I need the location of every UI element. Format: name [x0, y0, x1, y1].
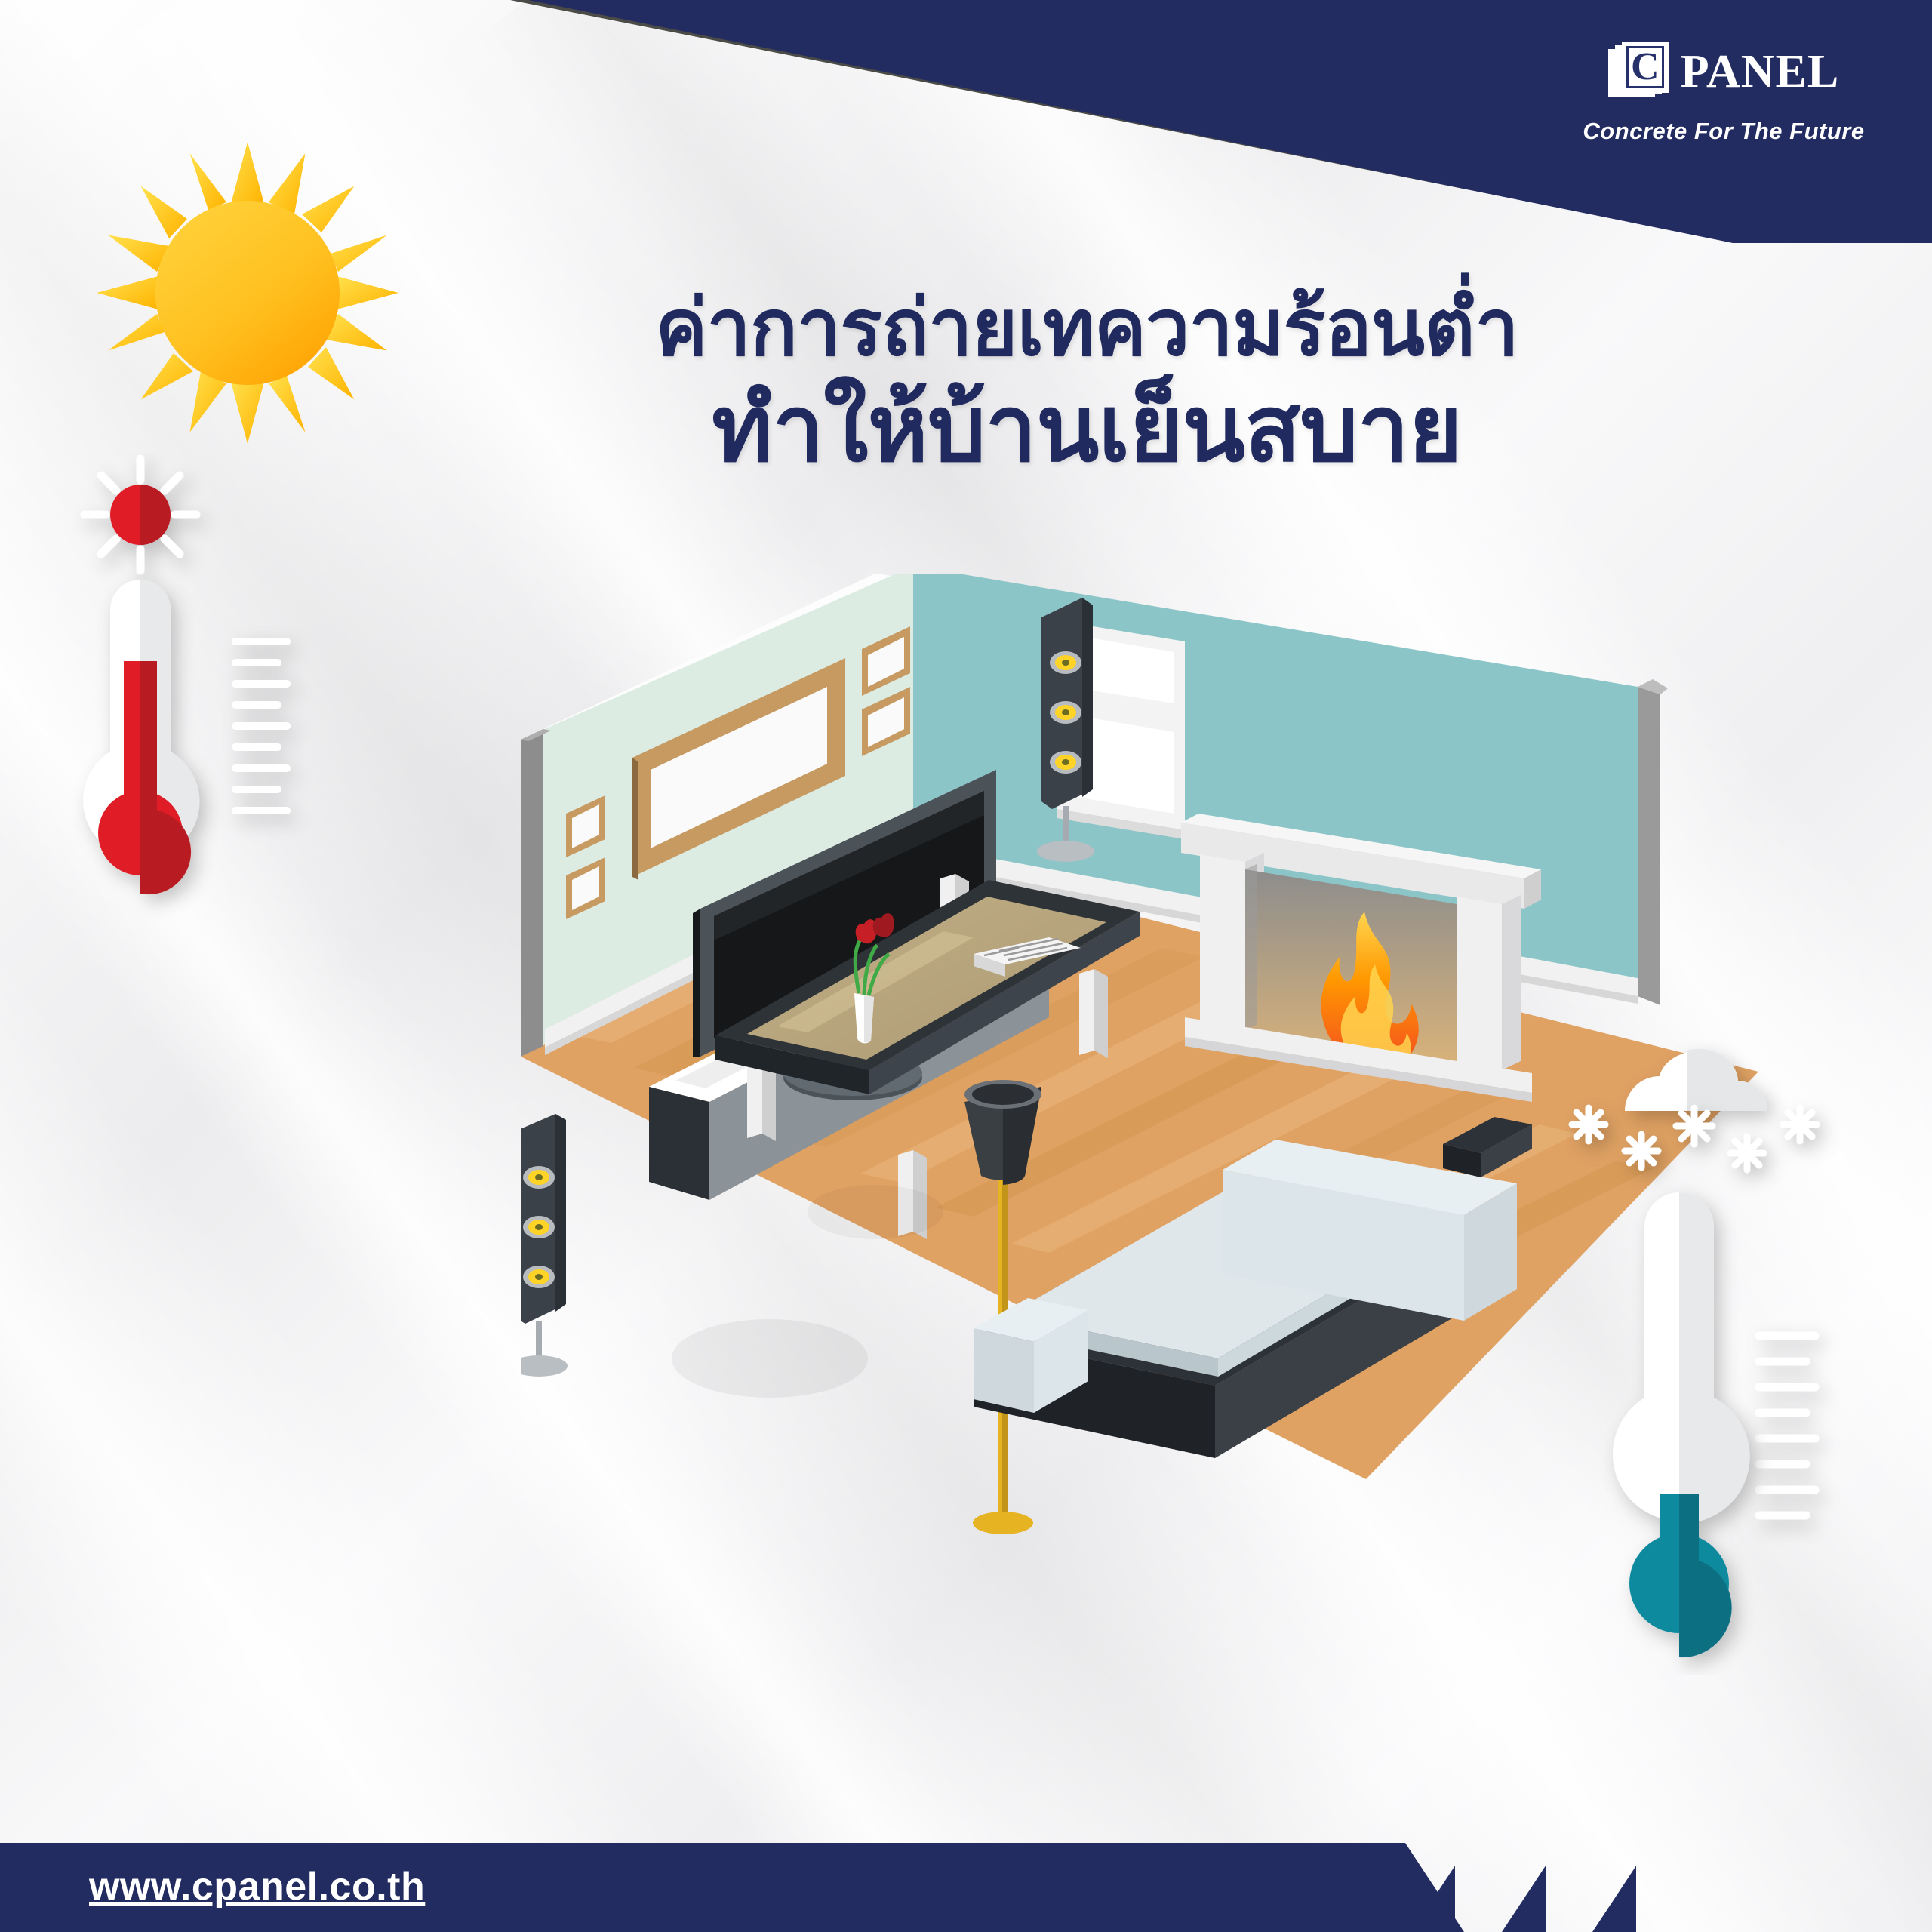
cold-thermometer	[1566, 1041, 1883, 1675]
headline-line-1: ค่าการถ่ายเทความร้อนต่ำ	[408, 287, 1766, 370]
thermometer-scale	[235, 641, 287, 811]
speaker-cone	[523, 1166, 555, 1288]
headline-line-2: ทำให้บ้านเย็นสบาย	[408, 380, 1766, 478]
flower-vase	[854, 993, 874, 1043]
sun-icon	[89, 134, 406, 451]
floor-shadow-2	[808, 1185, 943, 1239]
headline: ค่าการถ่ายเทความร้อนต่ำ ทำให้บ้านเย็นสบา…	[408, 287, 1766, 478]
red-sun-icon	[85, 459, 196, 571]
footer-stripe-3	[1592, 1843, 1636, 1932]
cloud-icon	[1625, 1049, 1767, 1111]
snowflake-icon	[1572, 1108, 1817, 1170]
website-url[interactable]: www.cpanel.co.th	[89, 1864, 425, 1909]
hot-thermometer	[60, 453, 332, 921]
poster-canvas: C PANEL Concrete For The Future	[0, 0, 1932, 1932]
wall-left-edge	[521, 729, 543, 1057]
footer-stripe-2	[1502, 1843, 1546, 1932]
floor-speaker-left	[521, 1114, 568, 1377]
thermometer-scale	[1759, 1336, 1815, 1515]
floor-shadow-1	[672, 1319, 868, 1398]
speaker-cone	[1050, 651, 1081, 774]
wall-right-edge	[1638, 687, 1660, 1005]
footer: www.cpanel.co.th	[0, 1811, 1932, 1932]
